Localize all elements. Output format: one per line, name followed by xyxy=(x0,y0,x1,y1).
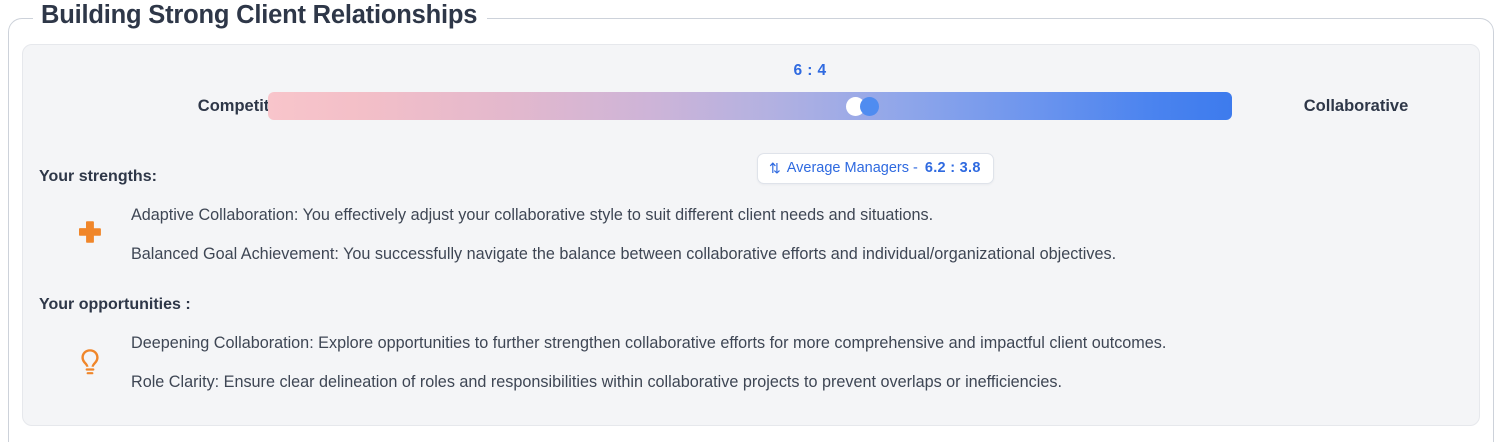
spectrum-slider[interactable]: Competitive 6 : 4 ⇅ Average Managers - 6… xyxy=(23,82,1479,130)
slider-track-wrapper[interactable]: 6 : 4 ⇅ Average Managers - 6.2 : 3.8 xyxy=(268,82,1232,130)
up-down-arrows-icon: ⇅ xyxy=(769,161,780,175)
slider-thumb[interactable] xyxy=(846,97,882,116)
slider-thumb-blue-dot xyxy=(860,97,879,116)
strengths-heading: Your strengths: xyxy=(39,168,157,186)
plus-icon xyxy=(77,219,107,259)
slider-track[interactable] xyxy=(268,92,1232,120)
benchmark-value: 6.2 : 3.8 xyxy=(925,160,981,176)
slider-label-right: Collaborative xyxy=(1250,82,1462,130)
report-section-panel: Building Strong Client Relationships Com… xyxy=(0,0,1500,442)
page-title: Building Strong Client Relationships xyxy=(33,0,487,32)
section-card: Competitive 6 : 4 ⇅ Average Managers - 6… xyxy=(22,44,1480,426)
list-item: Role Clarity: Ensure clear delineation o… xyxy=(131,372,1451,392)
slider-value-label: 6 : 4 xyxy=(750,62,870,80)
list-item: Balanced Goal Achievement: You successfu… xyxy=(131,244,1451,264)
list-item: Deepening Collaboration: Explore opportu… xyxy=(131,333,1451,353)
opportunities-list: Deepening Collaboration: Explore opportu… xyxy=(131,333,1451,392)
opportunities-heading: Your opportunities : xyxy=(39,296,191,314)
list-item: Adaptive Collaboration: You effectively … xyxy=(131,205,1451,225)
benchmark-badge[interactable]: ⇅ Average Managers - 6.2 : 3.8 xyxy=(757,153,994,184)
benchmark-label: Average Managers - xyxy=(787,160,918,176)
strengths-list: Adaptive Collaboration: You effectively … xyxy=(131,205,1451,264)
lightbulb-icon xyxy=(77,347,107,387)
